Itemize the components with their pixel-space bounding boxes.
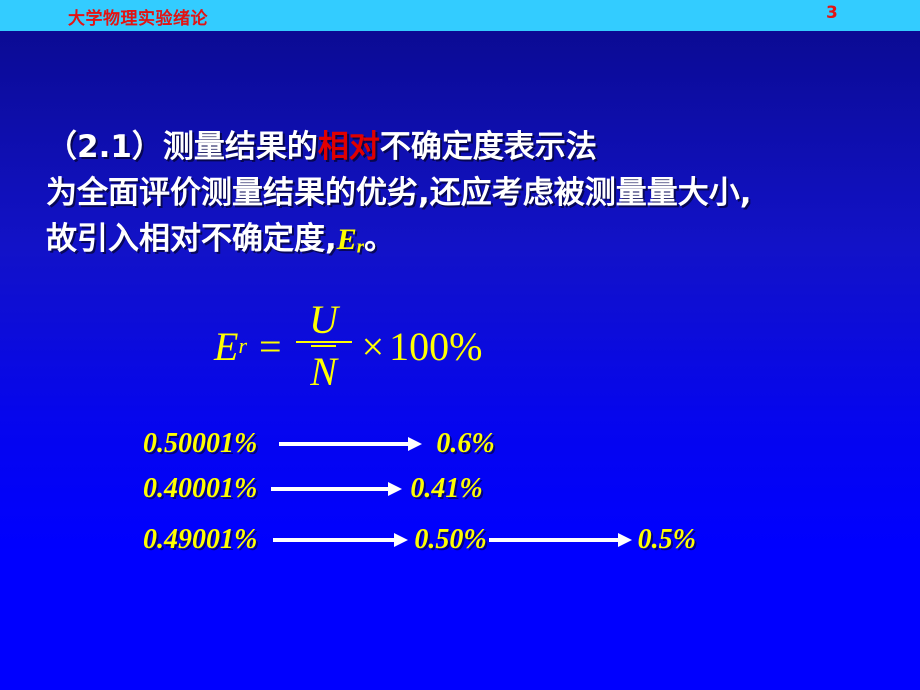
- denominator-symbol: N: [310, 346, 337, 392]
- body-line-1-highlight: 相对: [318, 129, 380, 165]
- row-1-source-value: 0.50001%: [143, 428, 257, 460]
- header-bar: 大学物理实验绪论 3: [0, 0, 920, 31]
- slide-canvas: 大学物理实验绪论 3 （2.1）测量结果的相对不确定度表示法 为全面评价测量结果…: [0, 0, 920, 690]
- arrow-head: [408, 437, 422, 451]
- body-line-1-suffix: 不确定度表示法: [380, 129, 597, 165]
- rounding-example-row-2: 0.40001% 0.41%: [143, 473, 483, 505]
- body-text-block: （2.1）测量结果的相对不确定度表示法 为全面评价测量结果的优劣,还应考虑被测量…: [46, 124, 906, 270]
- header-title: 大学物理实验绪论: [68, 4, 208, 29]
- row-3-source-value: 0.49001%: [143, 524, 257, 556]
- body-line-2-text: 为全面评价测量结果的优劣,还应考虑被测量量大小,: [46, 175, 752, 211]
- row-3-intermediate-value: 0.50%: [414, 524, 486, 556]
- row-3-result-value: 0.5%: [638, 524, 696, 556]
- formula-relative-uncertainty: Er = U N × 100%: [214, 300, 482, 392]
- rounding-example-row-1: 0.50001% 0.6%: [143, 428, 495, 460]
- body-line-2: 为全面评价测量结果的优劣,还应考虑被测量量大小,: [46, 170, 906, 216]
- rounding-example-row-3: 0.49001% 0.50% 0.5%: [143, 524, 696, 556]
- symbol-subscript: r: [357, 236, 364, 257]
- arrow-shaft: [489, 538, 619, 542]
- arrow-head: [388, 482, 402, 496]
- body-line-3-prefix: 故引入相对不确定度,: [46, 221, 337, 257]
- page-number: 3: [826, 3, 838, 23]
- formula-times-sign: ×: [362, 323, 385, 370]
- formula-fraction: U N: [296, 300, 352, 392]
- arrow-shaft: [271, 487, 389, 491]
- right-arrow-icon: [489, 534, 632, 546]
- arrow-head: [618, 533, 632, 547]
- right-arrow-icon: [271, 483, 402, 495]
- body-line-3: 故引入相对不确定度,Er。: [46, 216, 906, 270]
- right-arrow-icon: [279, 438, 422, 450]
- formula-lhs-subscript: r: [238, 333, 247, 359]
- body-line-1-prefix: （2.1）测量结果的: [46, 129, 318, 165]
- relative-uncertainty-symbol: Er: [337, 223, 364, 256]
- body-line-1: （2.1）测量结果的相对不确定度表示法: [46, 124, 906, 170]
- arrow-shaft: [279, 442, 409, 446]
- right-arrow-icon: [273, 534, 408, 546]
- symbol-base: E: [337, 223, 357, 256]
- body-line-3-suffix: 。: [364, 221, 395, 257]
- row-2-result-value: 0.41%: [410, 473, 482, 505]
- formula-denominator: N: [304, 343, 343, 392]
- row-2-source-value: 0.40001%: [143, 473, 257, 505]
- formula-lhs: E: [214, 323, 238, 370]
- arrow-shaft: [273, 538, 395, 542]
- row-1-result-value: 0.6%: [436, 428, 494, 460]
- formula-rhs: 100%: [389, 323, 482, 370]
- arrow-head: [394, 533, 408, 547]
- denominator-overbar-icon: [311, 345, 336, 347]
- formula-numerator: U: [303, 300, 344, 341]
- formula-equals-sign: =: [259, 323, 282, 370]
